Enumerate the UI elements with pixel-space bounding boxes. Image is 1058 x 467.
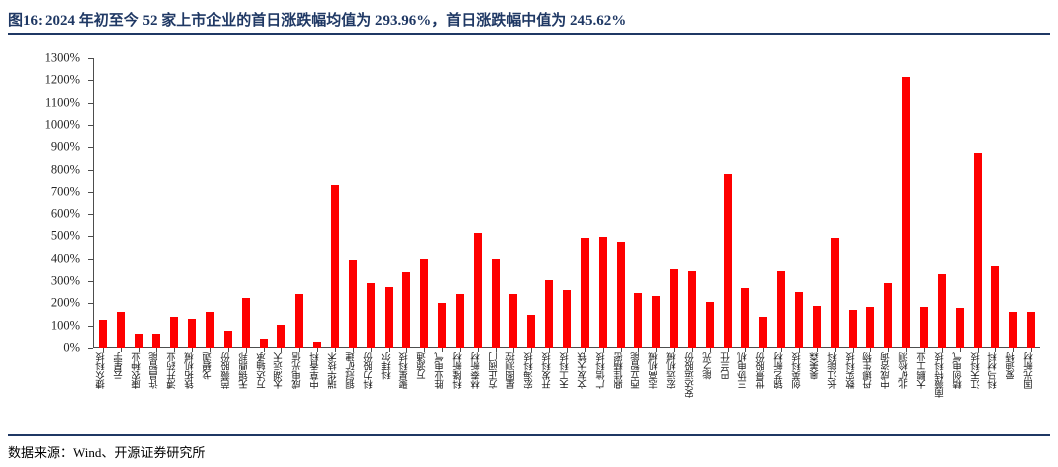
bar[interactable] <box>152 334 160 348</box>
x-tick-label: 天工科技 <box>562 352 572 389</box>
x-tick-label: 科隆新材 <box>455 352 465 389</box>
x-tick-label: 北矿检测 <box>901 352 911 389</box>
x-tick-label: 安达运股份 <box>687 352 697 398</box>
chart-plot-area: 0%100%200%300%400%500%600%700%800%900%10… <box>0 40 1058 430</box>
bar[interactable] <box>1027 312 1035 348</box>
bar[interactable] <box>617 242 625 348</box>
bar[interactable] <box>135 334 143 348</box>
y-tick-label: 300% <box>51 274 80 289</box>
x-tick-label: 志高机械 <box>651 352 661 389</box>
bar[interactable] <box>938 274 946 348</box>
x-tick-label: 奥美森 <box>812 352 822 380</box>
x-tick-label: 宏海科技 <box>526 352 536 389</box>
y-axis-labels: 0%100%200%300%400%500%600%700%800%900%10… <box>0 58 88 348</box>
y-tick-mark <box>88 125 93 126</box>
figure-number: 图16: <box>8 9 43 30</box>
bar[interactable] <box>991 266 999 348</box>
bar[interactable] <box>117 312 125 348</box>
bar[interactable] <box>688 271 696 348</box>
bar[interactable] <box>599 237 607 348</box>
bar[interactable] <box>492 259 500 348</box>
y-tick-label: 1300% <box>45 51 80 66</box>
x-axis-labels: 捷众科技云星宇康农种业许昌智能溥开药业铁拓机械戈碧迦芭薇股份无锡鼎邦万达轴承太湖… <box>94 352 1041 432</box>
x-tick-label: 中成咨询 <box>883 352 893 389</box>
x-tick-label: 捷众科技 <box>98 352 108 389</box>
bar[interactable] <box>759 317 767 348</box>
x-tick-label: 能之光 <box>705 352 715 380</box>
figure-title-row: 图16: 2024 年初至今 52 家上市企业的首日涨跌幅均值为 293.96%… <box>8 6 1050 32</box>
x-tick-label: 芭薇股份 <box>223 352 233 389</box>
data-source: 数据来源：Wind、开源证券研究所 <box>8 442 205 461</box>
y-tick-label: 1100% <box>45 95 80 110</box>
bar[interactable] <box>385 287 393 348</box>
bar[interactable] <box>634 293 642 348</box>
bar[interactable] <box>581 238 589 348</box>
page-title: 2024 年初至今 52 家上市企业的首日涨跌幅均值为 293.96%，首日涨跌… <box>45 9 626 30</box>
x-tick-label: 长江能科 <box>830 352 840 389</box>
bar[interactable] <box>527 315 535 348</box>
x-tick-label: 万源通 <box>419 352 429 380</box>
bar[interactable] <box>474 233 482 348</box>
y-tick-mark <box>88 281 93 282</box>
x-tick-label: 精创电气 <box>955 352 965 389</box>
bar[interactable] <box>277 325 285 348</box>
y-tick-label: 500% <box>51 229 80 244</box>
bar[interactable] <box>1009 312 1017 348</box>
x-tick-label: 大鹏工业 <box>919 352 929 389</box>
x-tick-label: 太湖远大 <box>276 352 286 389</box>
bar[interactable] <box>260 339 268 348</box>
x-tick-label: 西立智能 <box>633 352 643 389</box>
y-tick-label: 400% <box>51 251 80 266</box>
x-tick-label: 三协电机 <box>740 352 750 389</box>
bar[interactable] <box>545 280 553 348</box>
y-tick-label: 0% <box>63 341 80 356</box>
y-tick-label: 700% <box>51 184 80 199</box>
bar[interactable] <box>206 312 214 348</box>
x-tick-label: 世景股份 <box>758 352 768 389</box>
x-tick-label: 科马材料 <box>990 352 1000 389</box>
y-tick-mark <box>88 192 93 193</box>
x-tick-label: 铜冠矿建 <box>348 352 358 389</box>
y-tick-mark <box>88 236 93 237</box>
y-tick-label: 100% <box>51 318 80 333</box>
y-tick-label: 1000% <box>45 117 80 132</box>
bar[interactable] <box>420 259 428 348</box>
bar[interactable] <box>295 294 303 348</box>
x-tick-label: 江天科技 <box>973 352 983 389</box>
footer-divider <box>8 434 1050 436</box>
bar[interactable] <box>170 317 178 348</box>
bar[interactable] <box>902 77 910 348</box>
x-tick-label: 聚星科技 <box>401 352 411 389</box>
x-tick-label: 开发科技 <box>544 352 554 389</box>
x-tick-label: 锦艺新材 <box>776 352 786 389</box>
x-tick-label: 无锡鼎邦 <box>241 352 251 389</box>
y-tick-mark <box>88 103 93 104</box>
bar[interactable] <box>813 306 821 348</box>
bar[interactable] <box>920 307 928 348</box>
x-tick-label: 爱迪特 <box>1008 352 1018 380</box>
x-tick-label: 云星宇 <box>116 352 126 380</box>
x-tick-label: 广信科技 <box>598 352 608 389</box>
bar[interactable] <box>99 320 107 348</box>
x-tick-label: 数实科技 <box>848 352 858 389</box>
x-tick-label: 中草香料 <box>312 352 322 389</box>
x-tick-label: 戈碧迦 <box>205 352 215 380</box>
y-tick-label: 800% <box>51 162 80 177</box>
bar[interactable] <box>367 283 375 348</box>
bar[interactable] <box>331 185 339 348</box>
x-tick-label: 铁拓机械 <box>187 352 197 389</box>
x-tick-label: 成电光信 <box>294 352 304 389</box>
bar[interactable] <box>777 271 785 348</box>
bar[interactable] <box>849 310 857 348</box>
bar[interactable] <box>509 294 517 348</box>
bar[interactable] <box>724 174 732 348</box>
x-tick-label: 文友大铁 <box>580 352 590 389</box>
bar[interactable] <box>956 308 964 348</box>
x-tick-label: 方正阀门 <box>491 352 501 389</box>
y-tick-mark <box>88 259 93 260</box>
x-tick-label: 国光新材 <box>1026 352 1036 389</box>
bar[interactable] <box>706 302 714 348</box>
y-tick-mark <box>88 214 93 215</box>
y-tick-label: 900% <box>51 140 80 155</box>
bar[interactable] <box>831 238 839 348</box>
x-tick-label: 星图测控 <box>508 352 518 389</box>
y-tick-mark <box>88 170 93 171</box>
axes <box>93 58 1040 348</box>
x-tick-label: 科力股份 <box>366 352 376 389</box>
y-tick-mark <box>88 58 93 59</box>
bar[interactable] <box>456 294 464 348</box>
x-tick-label: 鼎佳精密 <box>616 352 626 389</box>
y-tick-label: 1200% <box>45 73 80 88</box>
bar[interactable] <box>402 272 410 348</box>
x-tick-label: 胜业电气 <box>437 352 447 389</box>
y-tick-mark <box>88 348 93 349</box>
x-tick-label: 林泰新材 <box>473 352 483 389</box>
y-tick-label: 200% <box>51 296 80 311</box>
y-tick-mark <box>88 147 93 148</box>
bar[interactable] <box>670 269 678 348</box>
y-tick-label: 600% <box>51 207 80 222</box>
x-tick-label: 巴兰仕 <box>723 352 733 380</box>
title-divider <box>8 33 1050 35</box>
x-tick-label: 宏远机械 <box>669 352 679 389</box>
bar[interactable] <box>438 303 446 348</box>
x-tick-label: 瑞华技术 <box>330 352 340 389</box>
bar-series <box>94 58 1040 348</box>
bar[interactable] <box>652 296 660 348</box>
bar[interactable] <box>224 331 232 348</box>
x-tick-label: 溥开药业 <box>169 352 179 389</box>
x-tick-label: 南薇特科技 <box>937 352 947 398</box>
bar[interactable] <box>242 298 250 348</box>
y-tick-mark <box>88 80 93 81</box>
x-tick-label: 丹娜生物 <box>865 352 875 389</box>
x-tick-label: 许昌智能 <box>151 352 161 389</box>
bar[interactable] <box>349 260 357 348</box>
bar[interactable] <box>866 307 874 348</box>
bar[interactable] <box>741 288 749 348</box>
x-tick-label: 万达轴承 <box>259 352 269 389</box>
x-tick-label: 科拜尔 <box>384 352 394 380</box>
y-tick-mark <box>88 303 93 304</box>
x-tick-label: 康农种业 <box>134 352 144 389</box>
x-tick-label: 创英科技 <box>794 352 804 389</box>
figure-container: 图16: 2024 年初至今 52 家上市企业的首日涨跌幅均值为 293.96%… <box>0 0 1058 467</box>
bar[interactable] <box>563 290 571 348</box>
y-tick-mark <box>88 326 93 327</box>
bar[interactable] <box>188 319 196 348</box>
bar[interactable] <box>884 283 892 348</box>
bar[interactable] <box>974 153 982 348</box>
bar[interactable] <box>795 292 803 348</box>
